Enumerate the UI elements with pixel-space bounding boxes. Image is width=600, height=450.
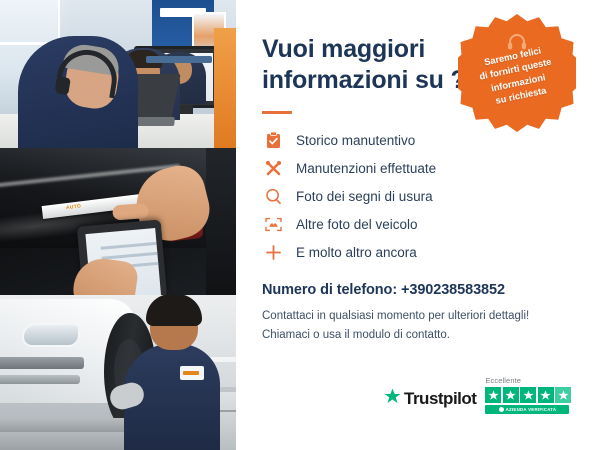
star-rating [485,387,571,403]
trustpilot-star-icon [384,388,401,410]
mechanic-hair [146,295,202,326]
call-center-agents-photo [0,0,236,148]
trustpilot-logo: Trustpilot [384,388,476,414]
heading-divider [262,111,292,114]
ruler-brand: AUTO [66,203,82,211]
mechanic-wheel-photo [0,295,236,450]
star-filled [485,387,501,403]
verified-label: AZIENDA VERIFICATA [506,407,557,412]
dark-edge-decor [206,148,236,295]
mechanic-figure [124,344,220,450]
feature-item-manutenzioni-effettuate: Manutenzioni effettuate [262,154,578,182]
plus-icon [262,241,284,263]
trustpilot-rating: Eccellente [485,376,571,414]
star-filled [520,387,536,403]
uniform-logo [180,366,204,380]
promo-banner: AUTO [0,0,600,450]
magnifier-icon [262,185,284,207]
rating-label: Eccellente [485,376,521,385]
orange-panel-decor [214,28,236,148]
heading-line-1: Vuoi maggiori [262,35,425,63]
check-circle-icon [499,407,504,412]
car-inspection-ruler-photo: AUTO [0,148,236,295]
phone-label: Numero di telefono: [262,282,401,298]
feature-item-molto-altro: E molto altro ancora [262,238,578,266]
tools-cross-icon [262,157,284,179]
monitor-screen-bar [146,56,212,63]
content-panel: Vuoi maggiori informazioni su ? Storico … [236,0,600,450]
star-filled [503,387,519,403]
feature-label: Manutenzioni effettuate [296,161,436,176]
feature-label: Altre foto del veicolo [296,217,418,232]
feature-item-altre-foto-veicolo: Altre foto del veicolo [262,210,578,238]
contact-text: Contattaci in qualsiasi momento per ulte… [262,307,578,344]
feature-label: E molto altro ancora [296,245,417,260]
star-filled [538,387,554,403]
photo-frame-icon [262,213,284,235]
ruler-brand-part1: AUTO [66,203,82,211]
trustpilot-wordmark: Trustpilot [404,389,476,409]
lower-grille [0,375,80,384]
star-half [555,387,571,403]
contact-line-1: Contattaci in qualsiasi momento per ulte… [262,307,578,326]
verified-company-badge: AZIENDA VERIFICATA [485,405,569,414]
page-title: Vuoi maggiori informazioni su ? [262,34,477,95]
feature-list: Storico manutentivo Manutenzioni effettu… [262,126,578,266]
phone-line: Numero di telefono: +390238583852 [262,282,578,298]
contact-line-2: Chiamaci o usa il modulo di contatto. [262,326,578,345]
front-grille [0,357,84,369]
photo-column: AUTO [0,0,236,450]
tablet-text-line [101,242,157,250]
feature-label: Storico manutentivo [296,133,415,148]
request-info-badge: Saremo felici di fornirti queste informa… [458,14,576,132]
finger [112,203,149,220]
agent-foreground [18,36,138,148]
trustpilot-widget[interactable]: Trustpilot Eccellente [384,376,571,414]
headlight [22,323,80,347]
clipboard-check-icon [262,129,284,151]
feature-item-foto-segni-usura: Foto dei segni di usura [262,182,578,210]
feature-label: Foto dei segni di usura [296,189,433,204]
phone-number[interactable]: +390238583852 [401,282,505,298]
heading-line-2: informazioni su ? [262,66,466,94]
